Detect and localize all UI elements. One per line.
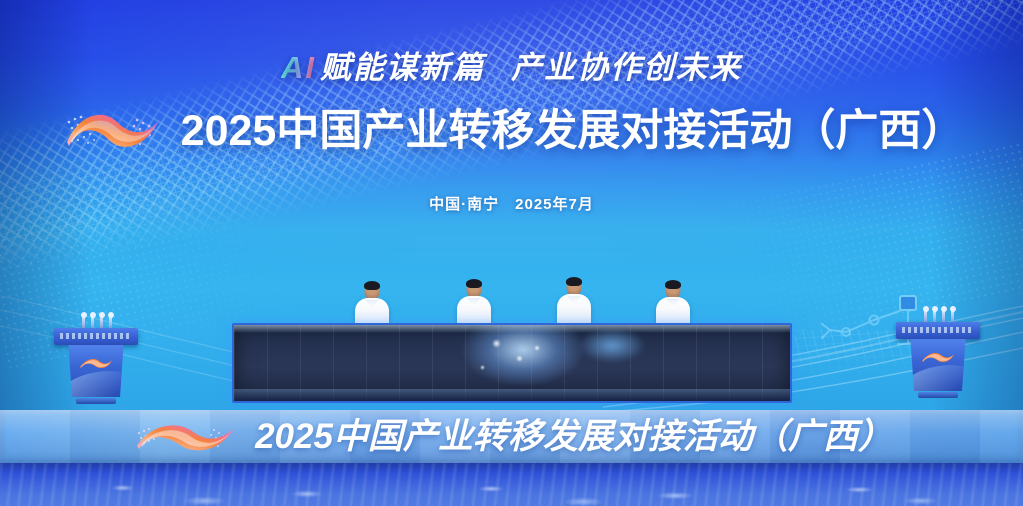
participant-hair bbox=[566, 277, 582, 286]
audience-floor-foreground bbox=[0, 463, 1023, 506]
podium-top-shelf bbox=[896, 322, 980, 339]
console-top-highlight bbox=[234, 325, 790, 333]
podium-logo-icon bbox=[78, 356, 114, 371]
podium-body bbox=[908, 339, 968, 391]
launch-console-panel bbox=[232, 323, 792, 403]
event-subtitle: 中国·南宁2025年7月 bbox=[0, 193, 1023, 214]
console-spark bbox=[492, 339, 501, 348]
podium-base bbox=[918, 392, 958, 398]
podium-nameplate-text bbox=[60, 333, 132, 339]
event-stage-photo: AI赋能谋新篇产业协作创未来 bbox=[0, 0, 1023, 506]
right-podium bbox=[896, 304, 980, 398]
console-light-glare-secondary bbox=[573, 328, 651, 372]
podium-top-shelf bbox=[54, 328, 138, 345]
console-spark bbox=[534, 345, 540, 351]
page-title: 2025中国产业转移发展对接活动（广西） bbox=[181, 110, 965, 153]
console-base-edge bbox=[234, 389, 790, 401]
participant-hair bbox=[364, 281, 380, 290]
main-title-row: 2025中国产业转移发展对接活动（广西） bbox=[0, 100, 1023, 162]
console-spark bbox=[516, 355, 523, 362]
event-tagline: AI赋能谋新篇产业协作创未来 bbox=[0, 52, 1023, 83]
banner-ribbon-logo-icon bbox=[130, 417, 245, 457]
tagline-first-phrase: 赋能谋新篇 bbox=[320, 50, 485, 85]
left-podium bbox=[54, 310, 138, 404]
stage-front-banner: 2025中国产业转移发展对接活动（广西） bbox=[0, 410, 1023, 463]
tagline-ai-text: AI bbox=[281, 50, 320, 85]
participant-hair bbox=[466, 279, 482, 288]
podium-nameplate-text bbox=[902, 327, 974, 333]
podium-body bbox=[66, 345, 126, 397]
podium-logo-icon bbox=[920, 350, 956, 365]
participant-hair bbox=[665, 280, 681, 289]
podium-base bbox=[76, 398, 116, 404]
subtitle-date: 2025年7月 bbox=[515, 196, 594, 213]
banner-title-text: 2025中国产业转移发展对接活动（广西） bbox=[255, 419, 893, 454]
floor-texture bbox=[0, 463, 1023, 506]
subtitle-place: 中国·南宁 bbox=[429, 196, 499, 213]
tagline-second-phrase: 产业协作创未来 bbox=[511, 50, 742, 85]
event-ribbon-logo-icon bbox=[59, 102, 167, 160]
console-spark bbox=[480, 365, 485, 370]
